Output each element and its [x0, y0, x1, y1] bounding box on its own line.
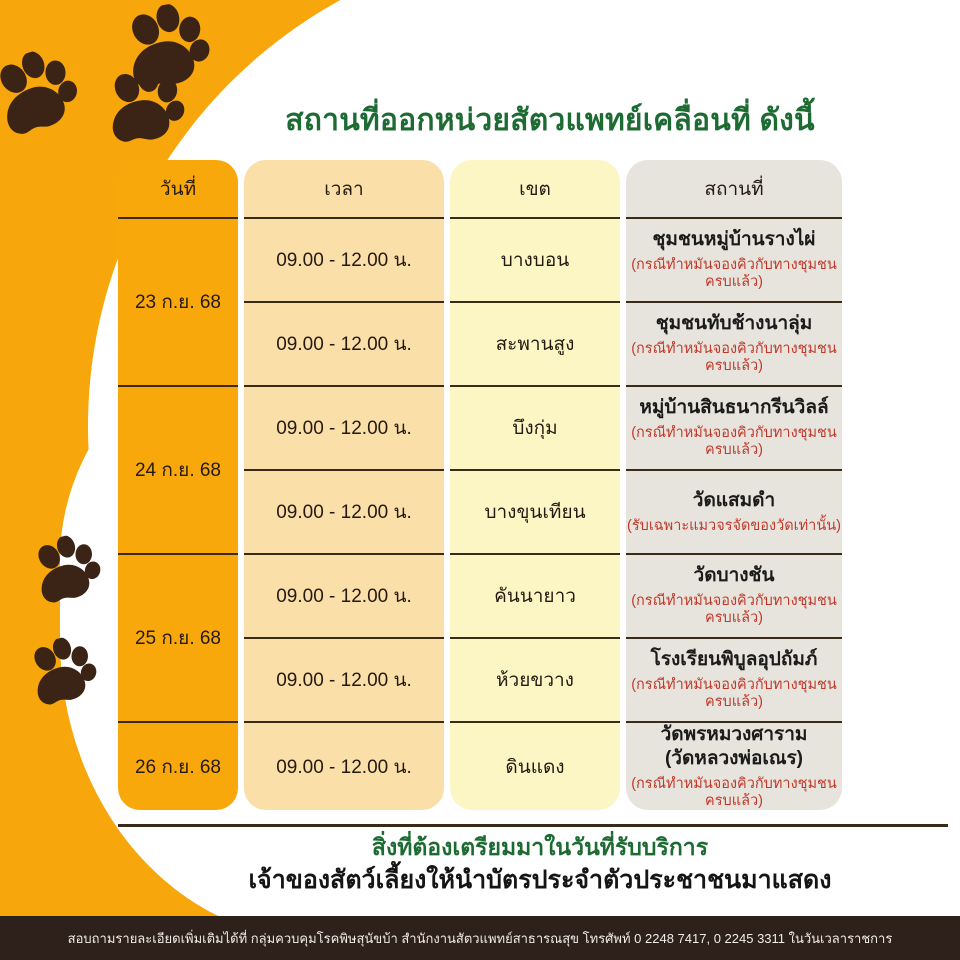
table-header: วันที่ เวลา เขต สถานที่: [118, 160, 842, 218]
cell-place: วัดพรหมวงศาราม (วัดหลวงพ่อเณร)(กรณีทำหมั…: [626, 722, 842, 810]
cell-time: 09.00 - 12.00 น.: [244, 302, 444, 386]
cell-district: บางขุนเทียน: [450, 470, 620, 554]
cell-date: 23 ก.ย. 68: [118, 218, 238, 386]
table-row: 25 ก.ย. 6809.00 - 12.00 น.คันนายาววัดบาง…: [118, 554, 842, 638]
place-note: (กรณีทำหมันจองคิวกับทางชุมชนครบแล้ว): [626, 425, 842, 460]
cell-time: 09.00 - 12.00 น.: [244, 386, 444, 470]
place-note: (กรณีทำหมันจองคิวกับทางชุมชนครบแล้ว): [626, 593, 842, 628]
schedule-table-wrapper: วันที่ เวลา เขต สถานที่ 23 ก.ย. 6809.00 …: [118, 160, 842, 810]
place-note: (กรณีทำหมันจองคิวกับทางชุมชนครบแล้ว): [626, 341, 842, 376]
table-row: 23 ก.ย. 6809.00 - 12.00 น.บางบอนชุมชนหมู…: [118, 218, 842, 302]
cell-place: โรงเรียนพิบูลอุปถัมภ์(กรณีทำหมันจองคิวกั…: [626, 638, 842, 722]
cell-time: 09.00 - 12.00 น.: [244, 218, 444, 302]
place-name: วัดพรหมวงศาราม (วัดหลวงพ่อเณร): [626, 723, 842, 771]
cell-district: ดินแดง: [450, 722, 620, 810]
cell-place: ชุมชนหมู่บ้านรางไผ่(กรณีทำหมันจองคิวกับท…: [626, 218, 842, 302]
place-name: ชุมชนทับช้างนาลุ่ม: [626, 312, 842, 336]
cell-district: บึงกุ่ม: [450, 386, 620, 470]
cell-date: 25 ก.ย. 68: [118, 554, 238, 722]
schedule-table: วันที่ เวลา เขต สถานที่ 23 ก.ย. 6809.00 …: [118, 160, 842, 810]
cell-time: 09.00 - 12.00 น.: [244, 638, 444, 722]
cell-place: วัดบางชัน(กรณีทำหมันจองคิวกับทางชุมชนครบ…: [626, 554, 842, 638]
cell-place: ชุมชนทับช้างนาลุ่ม(กรณีทำหมันจองคิวกับทา…: [626, 302, 842, 386]
place-note: (กรณีทำหมันจองคิวกับทางชุมชนครบแล้ว): [626, 257, 842, 292]
table-row: 24 ก.ย. 6809.00 - 12.00 น.บึงกุ่มหมู่บ้า…: [118, 386, 842, 470]
place-name: วัดแสมดำ: [626, 489, 842, 513]
place-name: โรงเรียนพิบูลอุปถัมภ์: [626, 648, 842, 672]
place-name: ชุมชนหมู่บ้านรางไผ่: [626, 228, 842, 252]
infographic-page: สถานที่ออกหน่วยสัตวแพทย์เคลื่อนที่ ดังนี…: [0, 0, 960, 960]
column-header-district: เขต: [450, 160, 620, 218]
cell-place: หมู่บ้านสินธนากรีนวิลล์(กรณีทำหมันจองคิว…: [626, 386, 842, 470]
place-note: (กรณีทำหมันจองคิวกับทางชุมชนครบแล้ว): [626, 677, 842, 712]
section-divider: [118, 824, 948, 827]
place-name: วัดบางชัน: [626, 564, 842, 588]
note-green-line: สิ่งที่ต้องเตรียมมาในวันที่รับบริการ: [120, 833, 960, 862]
footer-bar: สอบถามรายละเอียดเพิ่มเติมได้ที่ กลุ่มควบ…: [0, 916, 960, 960]
cell-date: 26 ก.ย. 68: [118, 722, 238, 810]
cell-place: วัดแสมดำ(รับเฉพาะแมวจรจัดของวัดเท่านั้น): [626, 470, 842, 554]
cell-date: 24 ก.ย. 68: [118, 386, 238, 554]
place-name: หมู่บ้านสินธนากรีนวิลล์: [626, 396, 842, 420]
cell-district: ห้วยขวาง: [450, 638, 620, 722]
cell-district: สะพานสูง: [450, 302, 620, 386]
column-header-date: วันที่: [118, 160, 238, 218]
table-row: 26 ก.ย. 6809.00 - 12.00 น.ดินแดงวัดพรหมว…: [118, 722, 842, 810]
column-header-place: สถานที่: [626, 160, 842, 218]
preparation-notes: สิ่งที่ต้องเตรียมมาในวันที่รับบริการ เจ้…: [0, 833, 960, 896]
table-body: 23 ก.ย. 6809.00 - 12.00 น.บางบอนชุมชนหมู…: [118, 218, 842, 810]
cell-district: คันนายาว: [450, 554, 620, 638]
footer-contact-text: สอบถามรายละเอียดเพิ่มเติมได้ที่ กลุ่มควบ…: [68, 928, 893, 949]
note-black-line: เจ้าของสัตว์เลี้ยงให้นำบัตรประจำตัวประชา…: [120, 864, 960, 897]
column-header-time: เวลา: [244, 160, 444, 218]
place-note: (รับเฉพาะแมวจรจัดของวัดเท่านั้น): [626, 518, 842, 535]
cell-time: 09.00 - 12.00 น.: [244, 470, 444, 554]
header-row: วันที่ เวลา เขต สถานที่: [118, 160, 842, 218]
cell-time: 09.00 - 12.00 น.: [244, 554, 444, 638]
page-title: สถานที่ออกหน่วยสัตวแพทย์เคลื่อนที่ ดังนี…: [0, 103, 960, 139]
cell-district: บางบอน: [450, 218, 620, 302]
place-note: (กรณีทำหมันจองคิวกับทางชุมชนครบแล้ว): [626, 776, 842, 811]
cell-time: 09.00 - 12.00 น.: [244, 722, 444, 810]
